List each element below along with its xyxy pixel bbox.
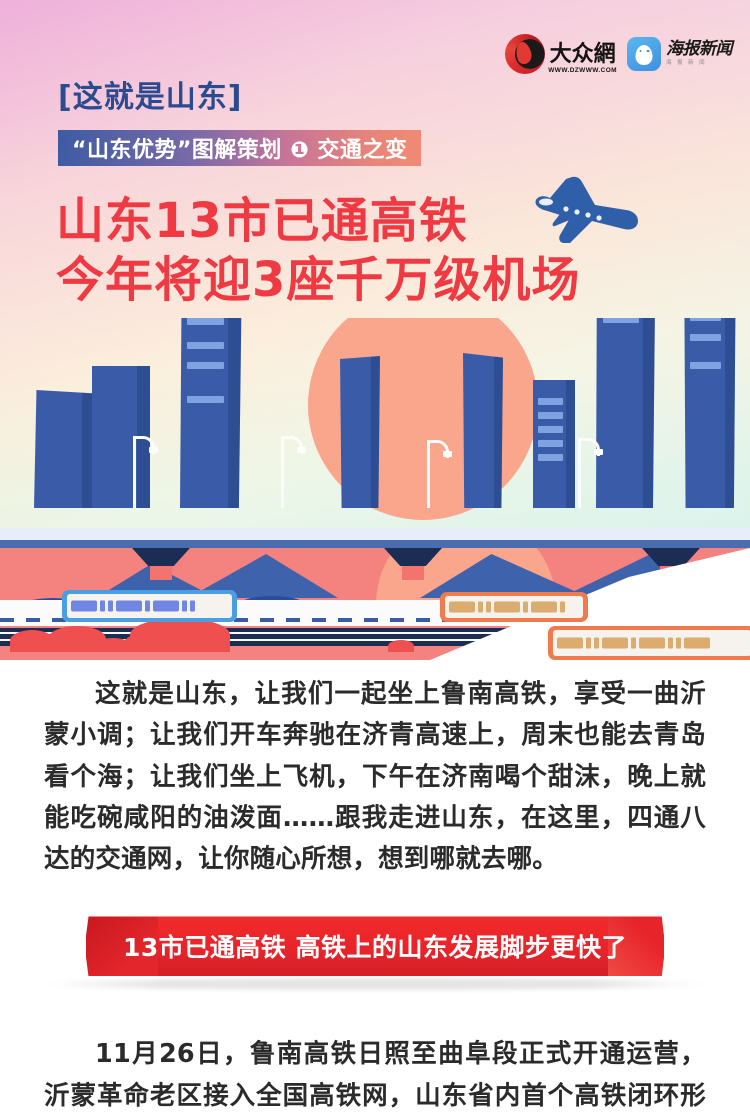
building-window	[538, 454, 563, 461]
haibao-logo[interactable]: 海报新闻 海 报 新 闻	[627, 37, 732, 71]
logo-row: 大众網 WWW.DZWWW.COM 海报新闻 海 报 新 闻	[505, 34, 732, 74]
lamp-head	[443, 451, 452, 457]
street-lamp	[427, 440, 451, 508]
building-window	[187, 318, 224, 325]
train-window-row	[71, 601, 228, 612]
building	[533, 380, 575, 508]
train-window-row	[557, 638, 747, 649]
building-shade	[725, 318, 736, 508]
airplane-icon	[520, 165, 645, 250]
street-lamp	[578, 438, 602, 508]
building-window	[690, 318, 721, 321]
dzwww-url: WWW.DZWWW.COM	[548, 68, 617, 75]
section-banner-text: 13市已通高铁 高铁上的山东发展脚步更快了	[0, 916, 750, 976]
dzwww-name: 大众網	[550, 44, 616, 66]
haibao-name: 海报新闻	[666, 41, 732, 58]
series-ribbon: “山东优势”图解策划 ❶ 交通之变	[58, 130, 421, 166]
lamp-head	[297, 447, 306, 453]
flame-logo-icon	[505, 34, 545, 74]
dzwww-wordmark: 大众網 WWW.DZWWW.COM	[548, 44, 617, 75]
train-car-body	[553, 630, 750, 656]
city-illustration	[0, 318, 750, 660]
building-window	[690, 334, 721, 341]
street-lamp	[133, 436, 157, 508]
haibao-wordmark: 海报新闻 海 报 新 闻	[666, 41, 732, 67]
article-paragraph-1: 这就是山东，让我们一起坐上鲁南高铁，享受一曲沂蒙小调；让我们开车奔驰在济青高速上…	[0, 660, 750, 880]
infographic-poster: 大众網 WWW.DZWWW.COM 海报新闻 海 报 新 闻 [这就是山东] “…	[0, 0, 750, 1112]
building-window	[690, 362, 721, 369]
article-body: 这就是山东，让我们一起坐上鲁南高铁，享受一曲沂蒙小调；让我们开车奔驰在济青高速上…	[0, 660, 750, 1112]
section-banner-zone: 13市已通高铁 高铁上的山东发展脚步更快了	[0, 908, 750, 1012]
seal-glyph-icon	[636, 45, 653, 65]
building-shade	[643, 318, 656, 508]
building-window	[538, 440, 563, 447]
lamp-head	[594, 449, 603, 455]
building-window	[187, 396, 224, 403]
building-window	[187, 362, 224, 369]
building-tall	[596, 318, 656, 508]
rail-deck-plate	[0, 528, 750, 540]
street-lamp	[281, 436, 305, 508]
building	[463, 353, 503, 508]
building-window	[538, 412, 563, 419]
building-tall	[180, 318, 242, 508]
train-car-orange-lower	[440, 592, 588, 622]
haibao-subtitle: 海 报 新 闻	[666, 61, 732, 67]
lamp-head	[149, 447, 158, 453]
article-paragraph-2: 11月26日，鲁南高铁日照至曲阜段正式开通运营，沂蒙革命老区接入全国高铁网，山东…	[0, 1012, 750, 1112]
train-car-body	[445, 596, 583, 618]
headline-line-2: 今年将迎3座千万级机场	[56, 251, 580, 310]
building-window	[603, 318, 639, 323]
building-window	[538, 426, 563, 433]
headline-line-1: 山东13市已通高铁	[56, 193, 468, 249]
building-window	[538, 398, 563, 405]
building-tall	[684, 318, 736, 508]
page-title: 山东13市已通高铁 今年将迎3座千万级机场	[56, 192, 580, 309]
building-shade	[228, 318, 242, 508]
building-shade	[566, 380, 575, 508]
building-window	[187, 342, 224, 349]
series-bracket-title: [这就是山东]	[58, 72, 242, 116]
train-car-blue	[62, 590, 237, 622]
train-window-row	[449, 602, 579, 613]
banner-shadow	[40, 978, 710, 990]
series-ribbon-text: “山东优势”图解策划 ❶ 交通之变	[72, 132, 407, 164]
building	[340, 356, 380, 508]
train-car-orange	[548, 626, 750, 660]
seal-app-icon	[627, 37, 661, 71]
building	[34, 390, 96, 508]
train-car-body	[67, 594, 232, 618]
dzwww-logo[interactable]: 大众網 WWW.DZWWW.COM	[505, 34, 617, 74]
